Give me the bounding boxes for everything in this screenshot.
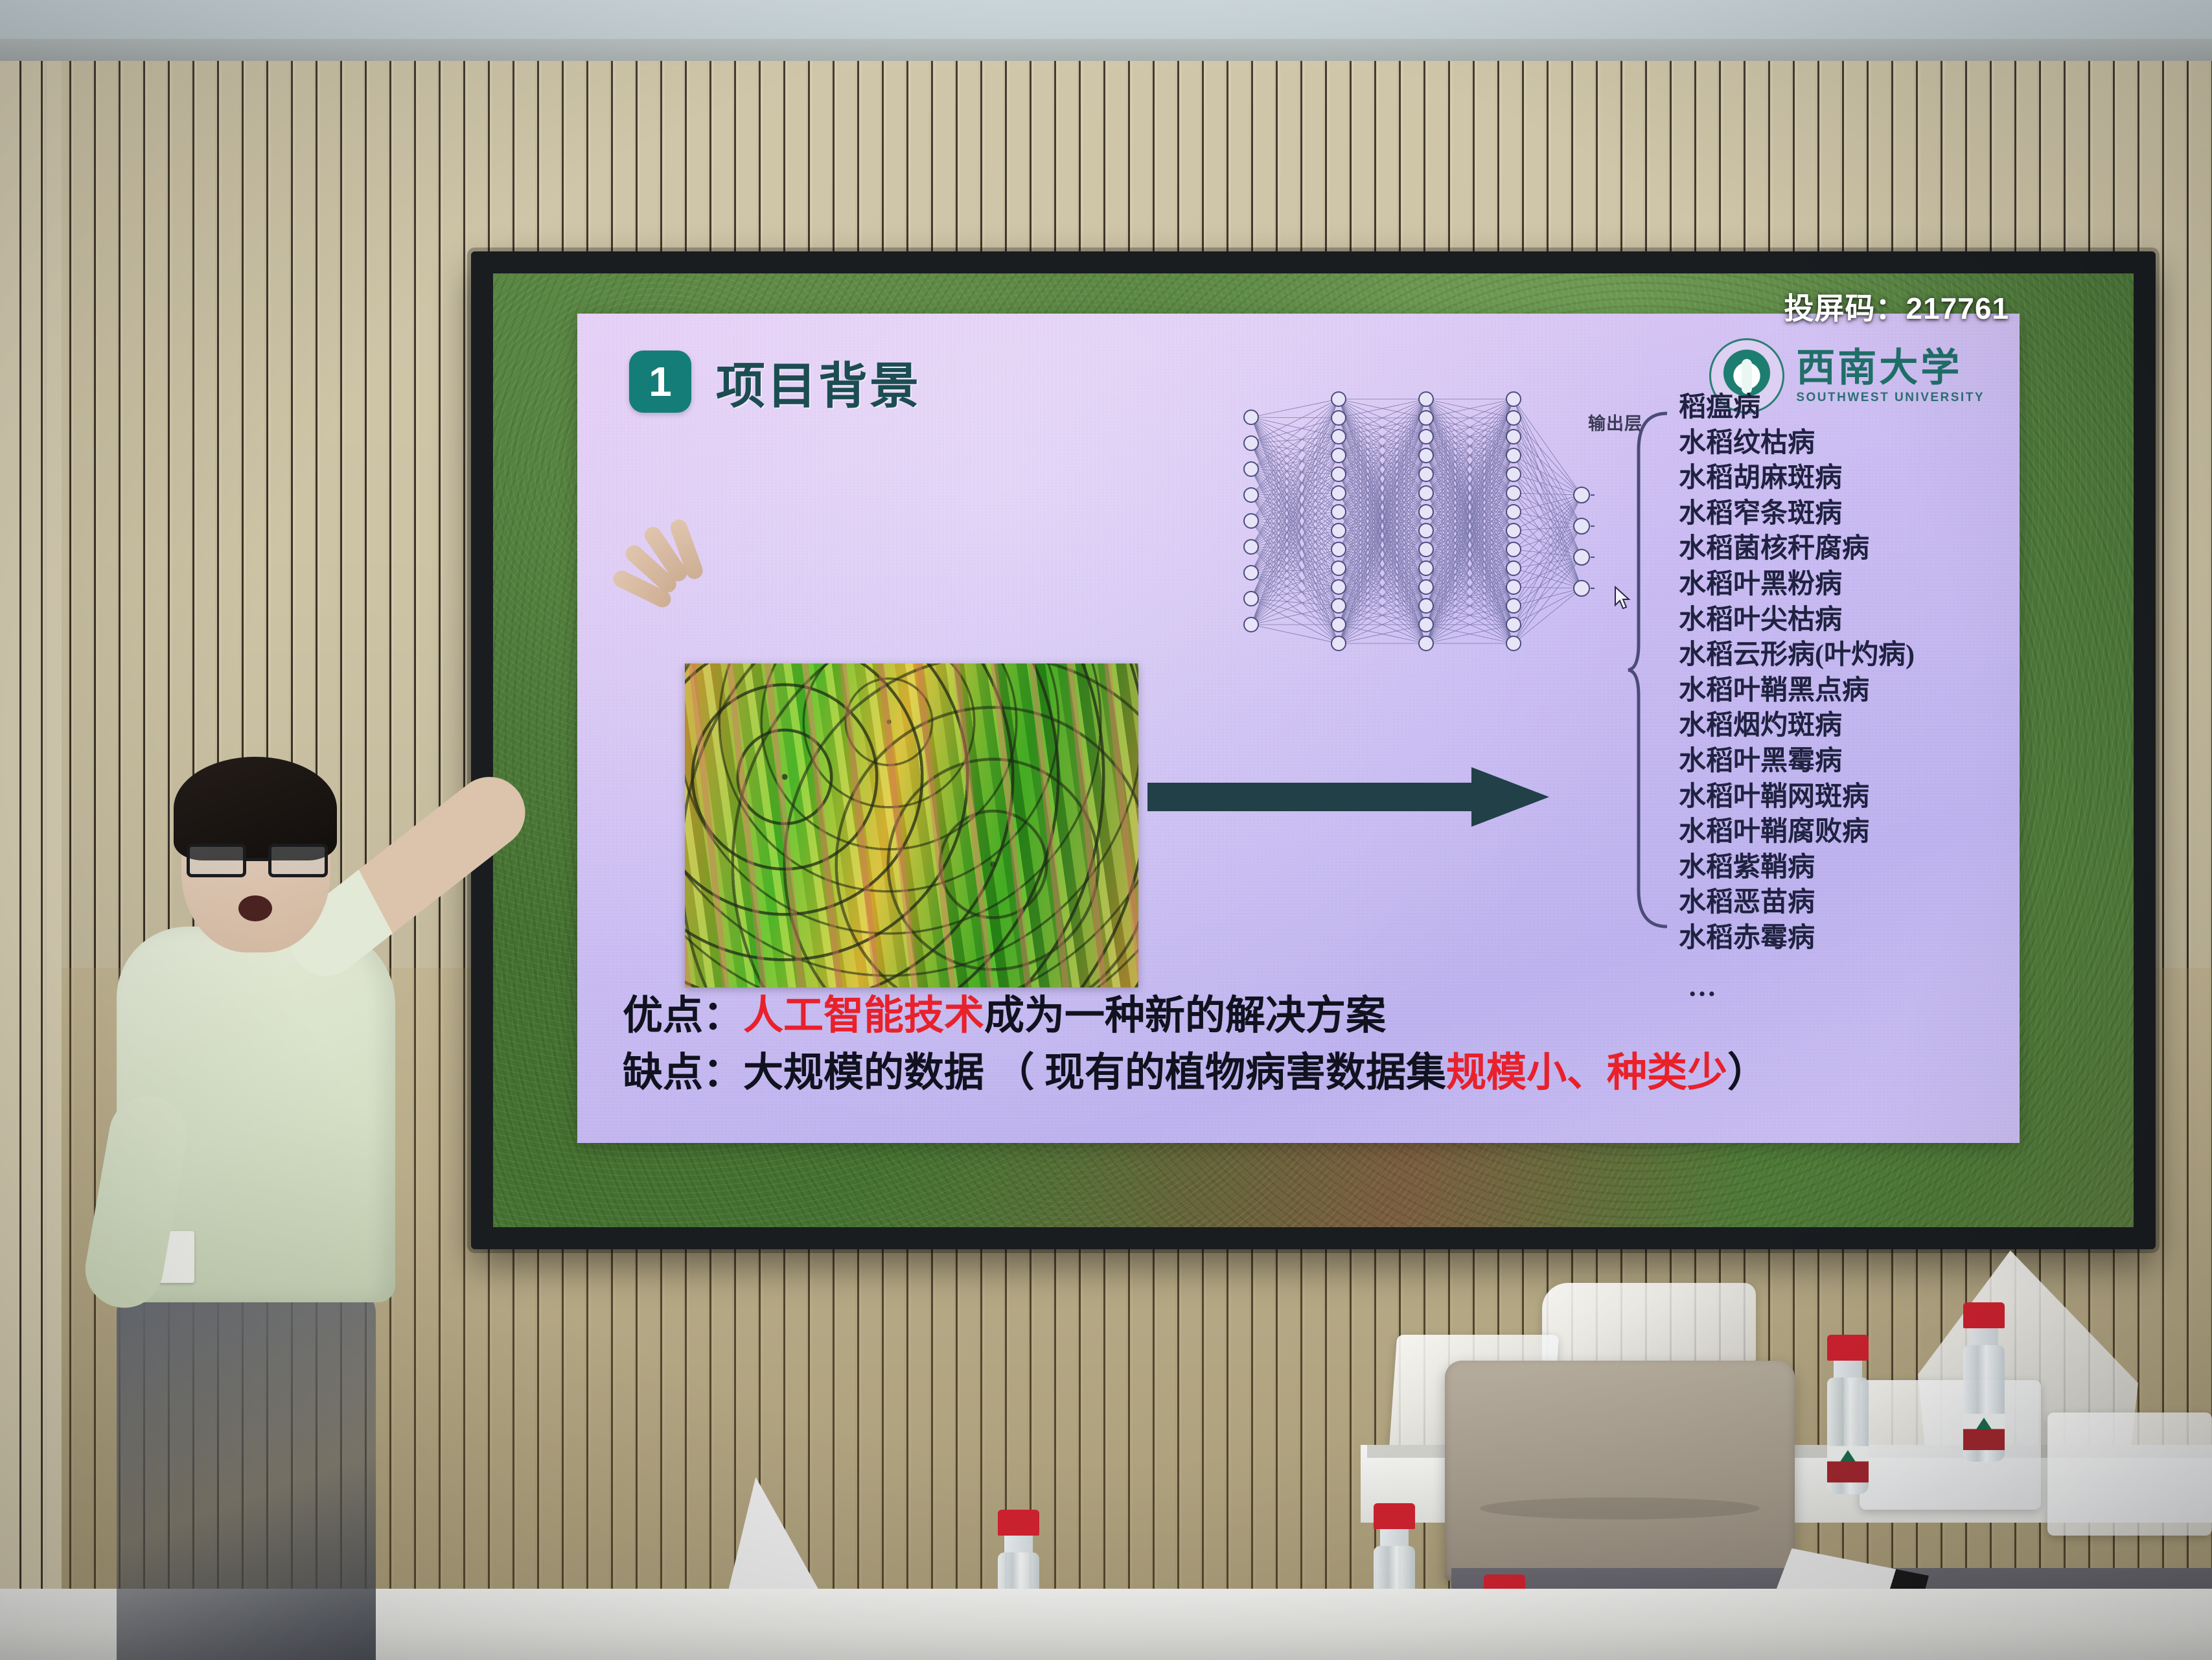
mouse-cursor-icon: [1614, 586, 1631, 610]
office-chair[interactable]: [1445, 1361, 1795, 1581]
glasses-lens-left: [187, 844, 246, 877]
list-item: 水稻赤霉病: [1679, 921, 1915, 956]
list-item: 水稻紫鞘病: [1679, 850, 1915, 886]
screen-surface: 投屏码：217761 1 项目背景 西南大学 SOUTHWEST UNIVERS…: [493, 273, 2134, 1227]
projection-code-label: 投屏码：217761: [1784, 285, 2010, 328]
statement-advantage-prefix: 优点：: [623, 994, 743, 1038]
glasses-bridge: [246, 858, 268, 861]
university-name-cn: 西南大学: [1796, 349, 1962, 387]
bottle-cap: [1374, 1503, 1415, 1529]
conference-room: 投屏码：217761 1 项目背景 西南大学 SOUTHWEST UNIVERS…: [0, 0, 2212, 1660]
presenter-glasses-icon: [187, 844, 328, 877]
plastic-bag: [1860, 1380, 2041, 1510]
transform-arrow-icon: [1147, 767, 1549, 827]
list-item: 水稻叶黑霉病: [1679, 744, 1915, 779]
slide-statements: 优点：人工智能技术成为一种新的解决方案 缺点：大规模的数据 （ 现有的植物病害数…: [623, 987, 1768, 1101]
bottle-neck: [1834, 1361, 1862, 1378]
list-item: 水稻叶鞘黑点病: [1679, 673, 1915, 709]
bottle-neck: [1380, 1529, 1409, 1546]
bottle-neck: [1970, 1328, 1998, 1345]
bottle-cap: [1827, 1335, 1869, 1361]
bottle-cap: [1963, 1302, 2005, 1328]
list-item: 水稻窄条斑病: [1679, 496, 1915, 532]
list-item: 水稻叶鞘腐败病: [1679, 814, 1915, 850]
plastic-bag: [2047, 1412, 2212, 1536]
water-bottle[interactable]: [1827, 1335, 1869, 1494]
presentation-display[interactable]: 投屏码：217761 1 项目背景 西南大学 SOUTHWEST UNIVERS…: [471, 251, 2156, 1249]
ceiling: [0, 0, 2212, 39]
statement-disadvantage-highlight: 规模小、种类少: [1446, 1051, 1727, 1095]
list-item: 水稻烟灼斑病: [1679, 708, 1915, 744]
list-item: 稻瘟病: [1679, 390, 1915, 426]
neural-network-diagram: [1232, 391, 1595, 663]
curly-brace-icon: [1627, 411, 1672, 929]
list-item: 水稻纹枯病: [1679, 426, 1915, 461]
statement-disadvantage: 缺点：大规模的数据 （ 现有的植物病害数据集规模小、种类少）: [623, 1044, 1768, 1101]
presenter-legs: [117, 1289, 376, 1660]
presenter: [19, 732, 603, 1660]
statement-advantage-suffix: 成为一种新的解决方案: [984, 994, 1386, 1038]
bottle-label: [1963, 1414, 2005, 1450]
statement-advantage-highlight: 人工智能技术: [743, 994, 984, 1038]
statement-advantage: 优点：人工智能技术成为一种新的解决方案: [623, 987, 1768, 1044]
section-number-badge: 1: [629, 351, 691, 413]
list-item: 水稻云形病(叶灼病): [1679, 638, 1915, 673]
list-item: 水稻叶鞘网斑病: [1679, 779, 1915, 815]
statement-disadvantage-prefix: 缺点：大规模的数据 （ 现有的植物病害数据集: [623, 1051, 1446, 1095]
presenter-mouth: [238, 895, 272, 921]
diseased-rice-leaves-photo: [685, 663, 1138, 987]
statement-disadvantage-suffix: ）: [1727, 1051, 1768, 1095]
water-bottle[interactable]: [1963, 1302, 2005, 1462]
bottle-label: [1827, 1446, 1869, 1482]
ceiling-trim: [0, 39, 2212, 61]
bottle-neck: [1004, 1536, 1033, 1552]
slide-card: 投屏码：217761 1 项目背景 西南大学 SOUTHWEST UNIVERS…: [577, 314, 2020, 1143]
glasses-lens-right: [268, 844, 328, 877]
bottle-cap: [998, 1510, 1039, 1536]
plastic-bag: [1542, 1283, 1756, 1367]
list-item: 水稻菌核秆腐病: [1679, 531, 1915, 567]
bottle-body: [1963, 1345, 2005, 1462]
slide-title: 项目背景: [716, 346, 921, 417]
list-item: 水稻胡麻斑病: [1679, 461, 1915, 496]
list-item: 水稻叶尖枯病: [1679, 603, 1915, 638]
rice-disease-list: 稻瘟病 水稻纹枯病 水稻胡麻斑病 水稻窄条斑病 水稻菌核秆腐病 水稻叶黑粉病 水…: [1679, 390, 1915, 1005]
list-item: 水稻叶黑粉病: [1679, 567, 1915, 603]
list-item: 水稻恶苗病: [1679, 885, 1915, 921]
slide-title-row: 1 项目背景: [629, 346, 921, 417]
bottle-body: [1827, 1378, 1869, 1494]
